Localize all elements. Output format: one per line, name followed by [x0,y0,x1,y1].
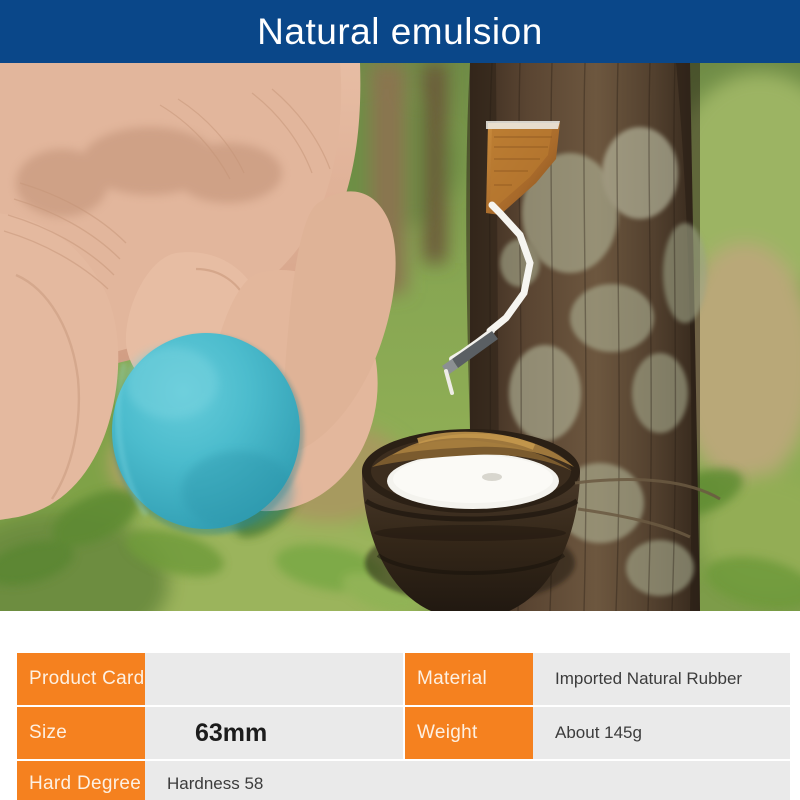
spec-value-material: Imported Natural Rubber [533,653,790,705]
spec-label-product-card: Product Card [17,653,145,705]
table-row: Product Card Material Imported Natural R… [17,653,790,705]
product-spec-table: Product Card Material Imported Natural R… [0,613,800,800]
spec-label-weight: Weight [405,707,533,759]
table-row: Size 63mm Weight About 145g [17,707,790,759]
page-title: Natural emulsion [257,13,543,50]
spec-value-weight: About 145g [533,707,790,759]
product-photo [0,63,800,611]
spec-value-product-card [145,653,403,705]
product-photo-illustration [0,63,800,611]
spec-label-hard-degree: Hard Degree [17,761,145,800]
page-header-banner: Natural emulsion [0,0,800,63]
product-detail-page: Natural emulsion [0,0,800,800]
table-row: Hard Degree Hardness 58 [17,761,790,800]
latex-collection-cup [362,429,580,611]
spec-value-size: 63mm [145,707,403,759]
spec-value-hard-degree: Hardness 58 [145,761,790,800]
spec-label-size: Size [17,707,145,759]
spec-label-material: Material [405,653,533,705]
ball-highlight [126,347,218,419]
